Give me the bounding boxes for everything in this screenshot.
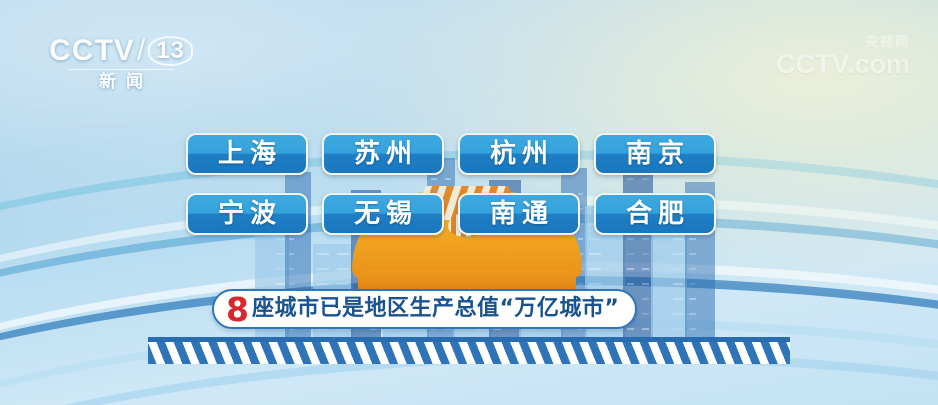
caption-text: 座城市已是地区生产总值“万亿城市”	[252, 298, 619, 320]
city-tag-nanjing: 南京	[594, 133, 716, 175]
city-tag-ningbo: 宁波	[186, 193, 308, 235]
broadcast-frame: 上海 苏州 杭州 南京 宁波 无锡 南通 合肥 8 座城市已是地区生产总值“万亿…	[0, 0, 938, 405]
diagonal-stripe-bar	[148, 337, 790, 364]
caption-banner: 8 座城市已是地区生产总值“万亿城市”	[212, 289, 637, 329]
city-tag-grid: 上海 苏州 杭州 南京 宁波 无锡 南通 合肥	[186, 133, 722, 253]
caption-count: 8	[226, 293, 249, 326]
city-tag-label: 南京	[620, 141, 690, 167]
city-tag-hefei: 合肥	[594, 193, 716, 235]
city-tag-label: 无锡	[348, 201, 418, 227]
city-tag-wuxi: 无锡	[322, 193, 444, 235]
stripe-bar-body	[148, 342, 790, 364]
city-tag-nantong: 南通	[458, 193, 580, 235]
city-tag-label: 宁波	[212, 201, 282, 227]
city-tag-row-2: 宁波 无锡 南通 合肥	[186, 193, 722, 235]
city-tag-hangzhou: 杭州	[458, 133, 580, 175]
city-tag-row-1: 上海 苏州 杭州 南京	[186, 133, 722, 175]
city-tag-label: 杭州	[484, 141, 554, 167]
city-tag-suzhou: 苏州	[322, 133, 444, 175]
city-tag-shanghai: 上海	[186, 133, 308, 175]
city-tag-label: 上海	[212, 141, 282, 167]
city-tag-label: 苏州	[348, 141, 418, 167]
city-tag-label: 合肥	[620, 201, 690, 227]
city-tag-label: 南通	[484, 201, 554, 227]
